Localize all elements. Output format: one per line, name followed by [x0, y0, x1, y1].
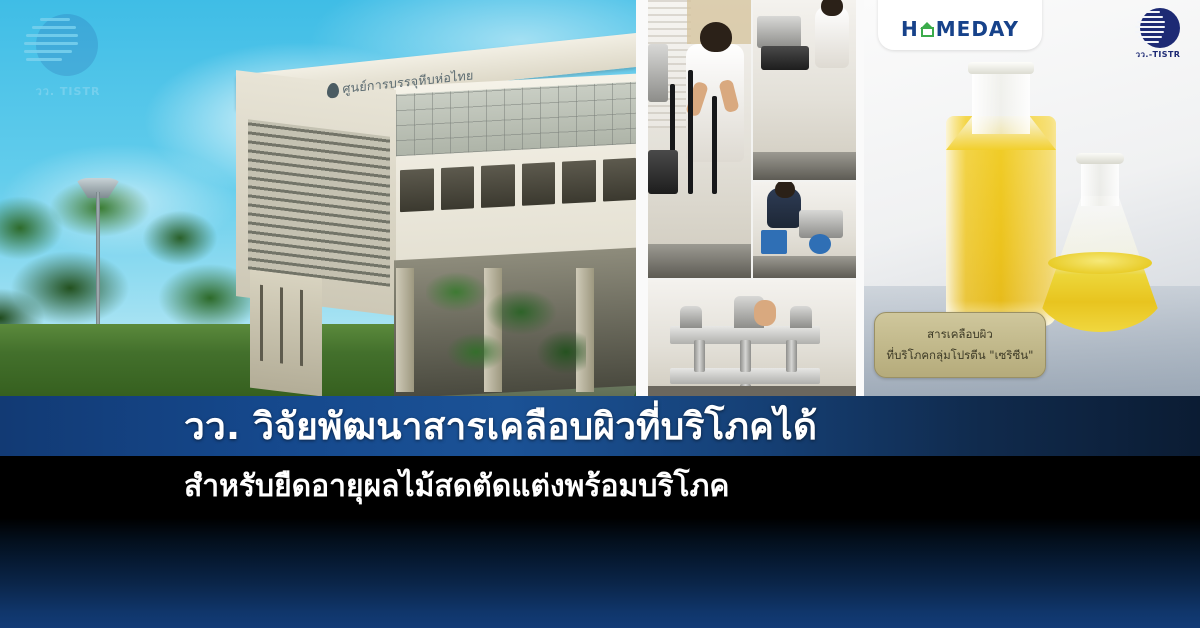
collage-cell-researcher-with-test-rods: [648, 0, 751, 278]
blue-container: [809, 234, 831, 254]
bottom-gradient-area: [0, 518, 1200, 628]
building-sign-text: ศูนย์การบรรจุหีบห่อไทย: [343, 65, 474, 99]
homeday-logo-suffix: MEDAY: [936, 17, 1019, 41]
tistr-logo-label: วว.-TISTR: [1130, 48, 1186, 61]
headline-title: วว. วิจัยพัฒนาสารเคลือบผิวที่บริโภคได้: [184, 408, 817, 445]
product-caption-line1: สารเคลือบผิว: [927, 326, 993, 344]
collage-cell-technician-at-blue-machine: [753, 182, 856, 278]
flask-lip: [1076, 153, 1124, 164]
headline-subtitle: สำหรับยืดอายุผลไม้สดตัดแต่งพร้อมบริโภค: [184, 472, 729, 502]
panel-divider: [856, 0, 864, 396]
blue-container: [761, 230, 787, 254]
subtitle-band: สำหรับยืดอายุผลไม้สดตัดแต่งพร้อมบริโภค: [0, 456, 1200, 518]
tistr-watermark-logo: วว. TISTR: [14, 10, 114, 106]
lab-equipment: [757, 16, 801, 48]
tistr-logo-stripes: [1132, 11, 1166, 45]
product-caption-line2: ที่บริโภคกลุ่มโปรตีน "เซริซีน": [887, 347, 1034, 365]
collage-cell-compression-press: [648, 280, 856, 396]
homeday-brand-badge: H MEDAY: [878, 0, 1042, 50]
bottle-neck: [972, 64, 1030, 134]
bottle-lip: [968, 62, 1034, 74]
person-head: [775, 182, 795, 198]
product-caption-box: สารเคลือบผิว ที่บริโภคกลุ่มโปรตีน "เซริซ…: [874, 312, 1046, 378]
erlenmeyer-flask: [1034, 156, 1166, 332]
operator-hand: [754, 300, 776, 326]
homeday-logo-prefix: H: [901, 17, 919, 41]
homeday-logo: H MEDAY: [901, 17, 1019, 41]
flask-liquid-surface: [1048, 252, 1152, 274]
lamp-post: [96, 192, 100, 342]
house-icon: [920, 22, 935, 37]
collage-cell-technician-at-bench: [753, 0, 856, 180]
building-photo-panel: วว. TISTR: [0, 0, 636, 396]
lab-collage-panel: [648, 0, 856, 396]
foliage-on-building: [426, 272, 586, 392]
photo-strip: วว. TISTR: [0, 0, 1200, 396]
banner-image: วว. TISTR: [0, 0, 1200, 628]
building-louvers: [248, 119, 390, 286]
thai-packaging-centre-building: ศูนย์การบรรจุหีบห่อไทย: [236, 36, 636, 356]
garuda-emblem-icon: [327, 82, 339, 98]
watermark-stripes: [22, 18, 82, 74]
person-head: [821, 0, 843, 16]
panel-divider: [636, 0, 648, 396]
person-head: [700, 22, 732, 52]
title-band: วว. วิจัยพัฒนาสารเคลือบผิวที่บริโภคได้: [0, 396, 1200, 456]
building-entrance: [250, 270, 322, 396]
watermark-label: วว. TISTR: [22, 82, 114, 100]
building-column: [396, 268, 414, 392]
tistr-logo: วว.-TISTR: [1130, 8, 1186, 58]
product-photo-panel: H MEDAY วว.-TISTR สารเคลือบผิว ที่บริโภค…: [864, 0, 1200, 396]
